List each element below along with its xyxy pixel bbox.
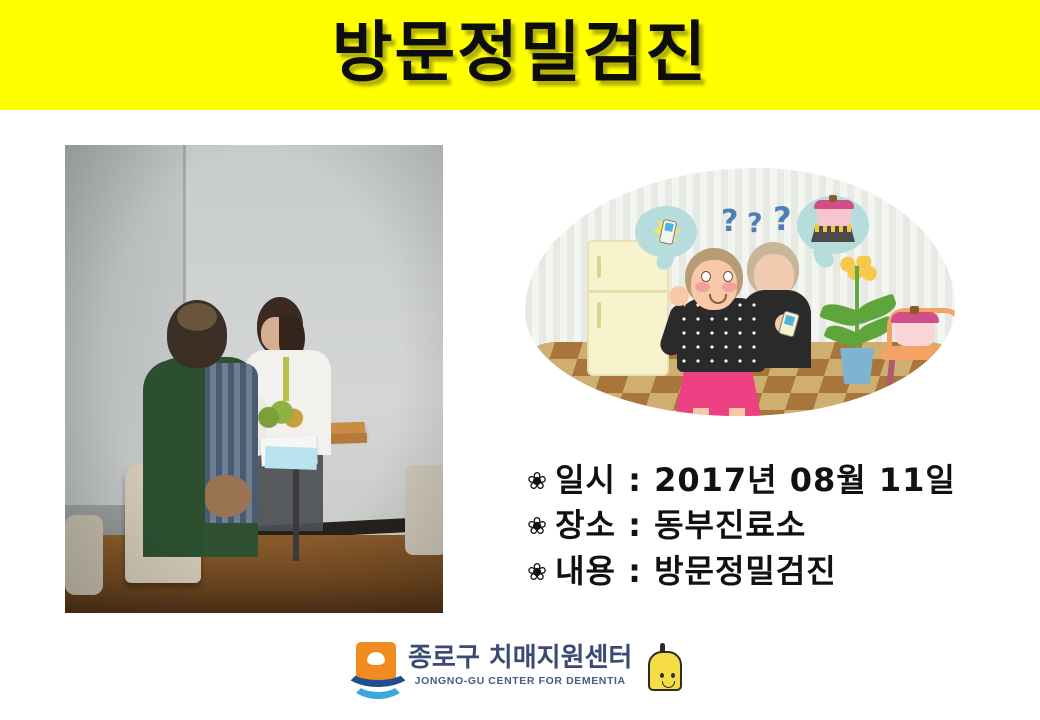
logo-english-name: JONGNO-GU CENTER FOR DEMENTIA <box>408 675 632 687</box>
photo-vignette <box>65 145 443 613</box>
question-mark-icon: ? <box>773 200 792 238</box>
detail-row-date: ❀ 일시 : 2017년 08월 11일 <box>527 458 997 503</box>
question-mark-icon: ? <box>721 204 738 239</box>
organization-logo: 종로구 치매지원센터 JONGNO-GU CENTER FOR DEMENTIA <box>344 640 680 692</box>
program-photo <box>65 145 443 613</box>
eye-right-icon <box>723 271 733 282</box>
detail-row-content: ❀ 내용 : 방문정밀검진 <box>527 549 997 594</box>
event-details: ❀ 일시 : 2017년 08월 11일 ❀ 장소 : 동부진료소 ❀ 내용 :… <box>527 458 997 594</box>
logo-korean-name: 종로구 치매지원센터 <box>408 645 632 672</box>
page-title: 방문정밀검진 <box>332 20 708 86</box>
title-banner: 방문정밀검진 <box>0 0 1040 110</box>
pot-knob-icon <box>829 195 837 202</box>
flower-bullet-icon: ❀ <box>527 555 548 589</box>
illustration-background: ? ? ? <box>525 168 955 416</box>
question-mark-icon: ? <box>747 208 763 239</box>
ginkgo-mascot-icon <box>646 643 680 689</box>
pot-on-chair-icon <box>895 320 935 346</box>
rocking-chair-icon <box>881 308 955 404</box>
hand-left-icon <box>669 286 689 306</box>
fridge-handle-top-icon <box>597 256 601 278</box>
detail-content-text: 내용 : 방문정밀검진 <box>555 549 837 594</box>
detail-date-text: 일시 : 2017년 08월 11일 <box>555 458 956 503</box>
mascot-eye-left <box>660 673 664 678</box>
mascot-eye-right <box>671 673 675 678</box>
chair-seat <box>881 346 955 360</box>
pot-on-chair-knob-icon <box>910 306 919 314</box>
logo-bird-icon <box>367 652 385 665</box>
flower-bullet-icon: ❀ <box>527 509 548 543</box>
fridge-handle-bottom-icon <box>597 302 601 328</box>
cooking-pot-icon <box>817 206 851 226</box>
flower-bullet-icon: ❀ <box>527 464 548 498</box>
cheek-blush-right <box>722 282 737 292</box>
mascot-smile <box>662 681 675 688</box>
detail-place-text: 장소 : 동부진료소 <box>555 503 806 548</box>
plant-flowers-icon <box>839 256 879 288</box>
logo-mark-icon <box>344 640 398 692</box>
logo-wordmark: 종로구 치매지원센터 JONGNO-GU CENTER FOR DEMENTIA <box>408 645 632 686</box>
mascot-body <box>648 651 682 691</box>
eye-left-icon <box>701 271 711 282</box>
detail-row-place: ❀ 장소 : 동부진료소 <box>527 503 997 548</box>
elderly-woman-leg-left <box>693 408 709 416</box>
elderly-woman-leg-right <box>729 408 745 416</box>
poster-root: 방문정밀검진 <box>0 0 1040 720</box>
cheek-blush-left <box>695 282 710 292</box>
dementia-illustration: ? ? ? <box>505 160 970 425</box>
